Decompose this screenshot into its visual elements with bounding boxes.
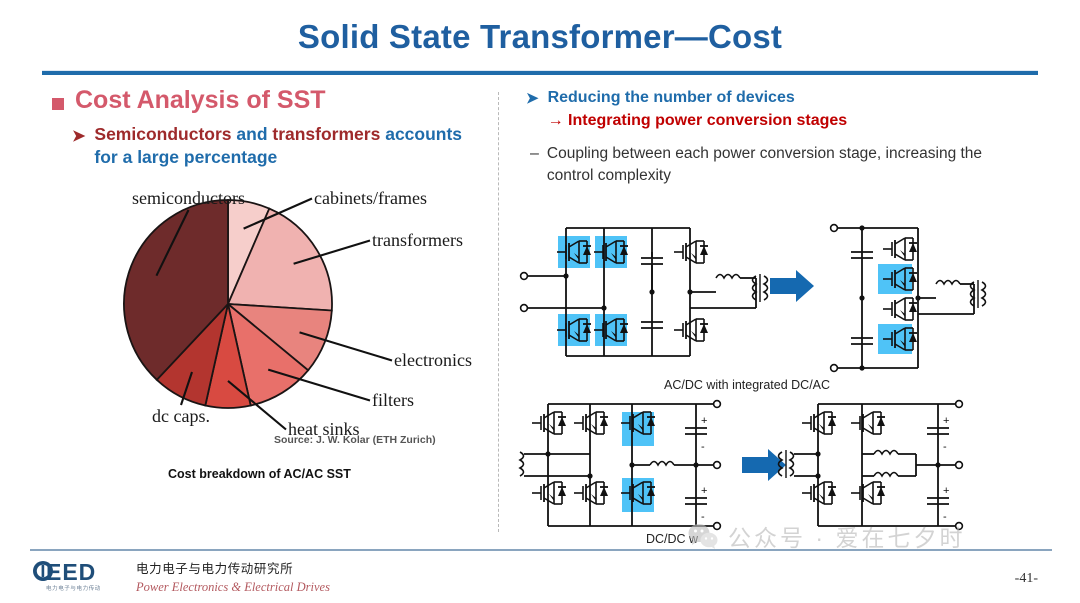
svg-text:+: +	[701, 415, 707, 427]
left-bullet-part2: and	[232, 124, 273, 144]
watermark-text: 公众号 · 爱在七夕时	[728, 519, 965, 553]
pie-chart: semiconductorscabinets/framestransformer…	[42, 182, 494, 512]
triangle-bullet-icon: ➤	[72, 126, 85, 148]
svg-text:电力电子与电力传动: 电力电子与电力传动	[46, 584, 101, 592]
chart-caption: Cost breakdown of AC/AC SST	[168, 467, 351, 481]
circuit-top-left	[521, 228, 768, 356]
pie-slices	[124, 200, 332, 408]
footer-divider	[30, 549, 1052, 551]
chart-source: Source: J. W. Kolar (ETH Zurich)	[274, 434, 436, 446]
peed-logo: EED 电力电子与电力传动	[32, 553, 128, 597]
right-subbullet-text: Coupling between each power conversion s…	[547, 143, 987, 187]
pie-label: filters	[372, 390, 414, 411]
pie-label: dc caps.	[152, 406, 210, 427]
title-divider	[42, 70, 1038, 75]
left-bullet-part1: Semiconductors	[94, 124, 231, 144]
triangle-bullet-icon-right: ➤	[526, 88, 539, 109]
square-bullet-icon	[52, 98, 64, 110]
pie-label: cabinets/frames	[314, 188, 427, 209]
circuit-top-right	[831, 225, 986, 372]
pie-label: electronics	[394, 350, 472, 371]
column-divider	[498, 92, 499, 532]
institute-name-en: Power Electronics & Electrical Drives	[136, 580, 330, 595]
svg-text:-: -	[943, 441, 947, 453]
left-column: Cost Analysis of SST ➤ Semiconductors an…	[42, 86, 494, 526]
right-bullet-main: Reducing the number of devices	[548, 89, 795, 106]
circuit-caption-top: AC/DC with integrated DC/AC	[664, 378, 830, 392]
left-bullet-text: Semiconductors and transformers accounts…	[94, 123, 474, 170]
left-bullet-part3: transformers	[272, 124, 380, 144]
right-column: ➤ Reducing the number of devices→ Integr…	[512, 86, 1042, 526]
right-heading-text: Reducing the number of devices→ Integrat…	[548, 86, 848, 132]
circuit-bottom-left: + - + -	[518, 401, 720, 530]
watermark: 公众号 · 爱在七夕时	[688, 519, 965, 553]
wechat-icon	[688, 523, 718, 549]
svg-text:+: +	[943, 415, 949, 427]
svg-text:+: +	[943, 485, 949, 497]
right-subbullet-row: – Coupling between each power conversion…	[530, 143, 1042, 187]
slide-root: Solid State Transformer—Cost Cost Analys…	[0, 0, 1080, 603]
institute-name-cn: 电力电子与电力传动研究所	[136, 558, 293, 577]
svg-text:-: -	[701, 441, 705, 453]
pie-label: transformers	[372, 230, 463, 251]
circuit-bottom-right: + - + -	[779, 401, 963, 530]
dash-bullet-icon: –	[530, 143, 539, 165]
pie-label: semiconductors	[132, 188, 245, 209]
svg-text:+: +	[701, 485, 707, 497]
right-bullet-sub: → Integrating power conversion stages	[548, 109, 848, 132]
left-heading: Cost Analysis of SST	[75, 86, 326, 115]
arrow-icon-top	[770, 270, 814, 302]
svg-text:EED: EED	[46, 559, 96, 585]
page-number: -41-	[1015, 571, 1038, 587]
right-heading-row: ➤ Reducing the number of devices→ Integr…	[526, 86, 1042, 132]
left-heading-row: Cost Analysis of SST	[52, 86, 494, 115]
left-bullet-row: ➤ Semiconductors and transformers accoun…	[72, 123, 494, 170]
page-title: Solid State Transformer—Cost	[0, 18, 1080, 56]
